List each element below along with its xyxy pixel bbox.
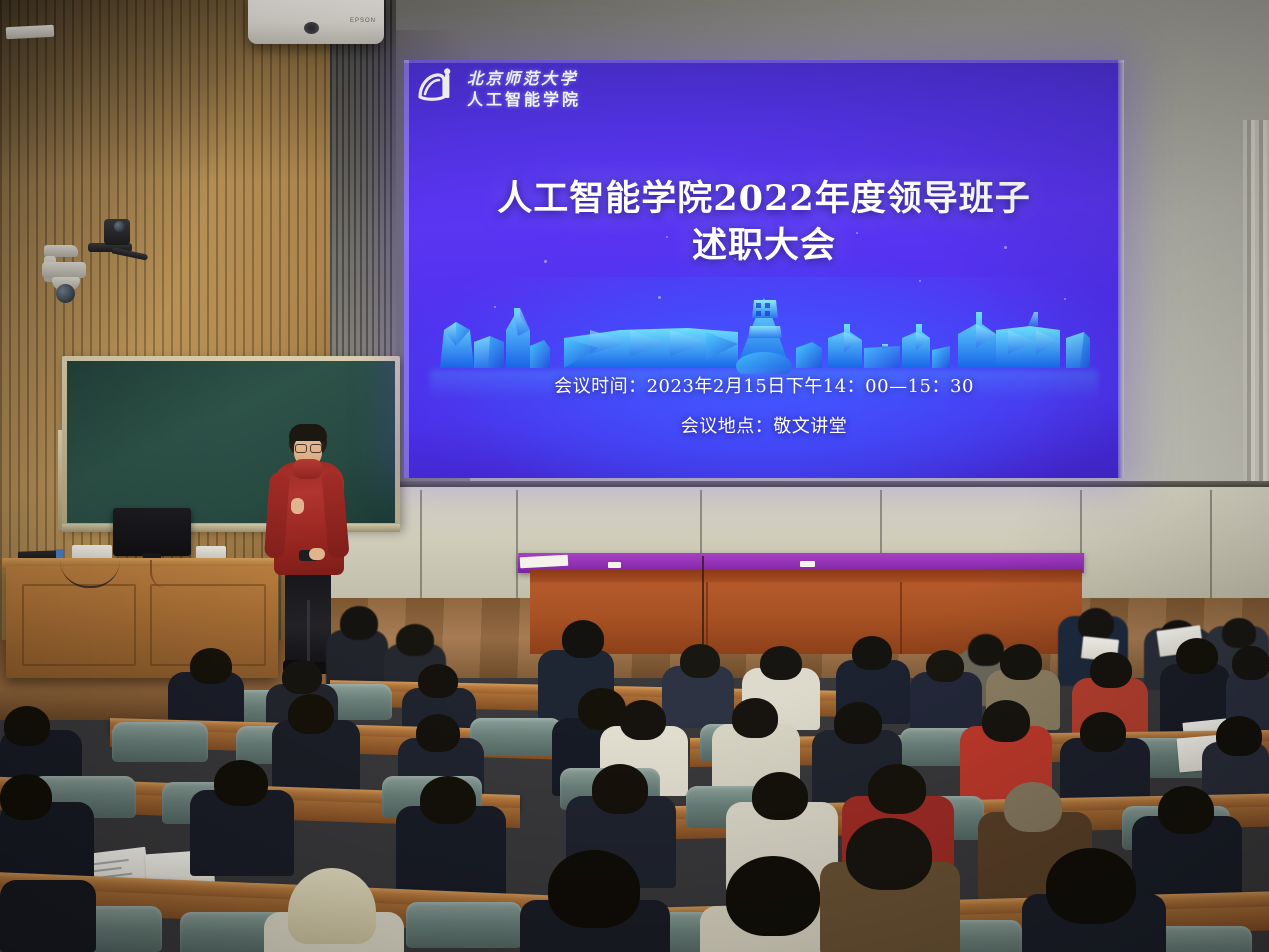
dome-camera-lens-icon [56, 284, 75, 303]
audience-head [288, 694, 334, 734]
slide-meeting-time: 会议时间：2023年2月15日下午14：00—15：30 [404, 372, 1124, 398]
panel-table-paper [608, 562, 621, 568]
audience-head [340, 606, 378, 640]
slide-logo-university: 北京师范大学 [467, 71, 581, 87]
audience-head [834, 702, 882, 744]
wainscot-seam [516, 490, 518, 606]
audience-seat [470, 718, 562, 756]
slide-title: 人工智能学院2022年度领导班子 述职大会 [404, 176, 1124, 269]
podium-door-panel-left [22, 584, 136, 666]
slide-logo-text: 北京师范大学 人工智能学院 [467, 71, 581, 108]
presenter-hand-left [291, 498, 304, 514]
audience-head [1078, 608, 1114, 640]
audience-head [562, 620, 604, 658]
wainscot-seam [420, 490, 422, 606]
audience-head [1216, 716, 1262, 756]
audience-head [592, 764, 648, 814]
wall-sign [6, 25, 55, 39]
audience-head [420, 776, 476, 824]
audience-head [726, 856, 820, 936]
presenter-fringe [289, 424, 327, 441]
audience-head [868, 764, 926, 814]
slide-title-line1: 人工智能学院2022年度领导班子 [404, 176, 1124, 223]
audience-head [1080, 712, 1126, 752]
audience-head [760, 646, 802, 680]
audience-head [680, 644, 720, 678]
audience-head [396, 624, 434, 656]
audience-head [982, 700, 1030, 742]
audience-head [418, 664, 458, 698]
presenter-glasses-left-icon [295, 444, 307, 453]
audience-head [416, 714, 460, 752]
slide-logo: 北京师范大学 人工智能学院 [414, 67, 581, 111]
audience-head [846, 818, 932, 890]
audience-head [4, 706, 50, 746]
screen-edge-left [404, 60, 409, 478]
audience-head [190, 648, 232, 684]
audience-head [1176, 638, 1218, 674]
panel-table-paper [800, 561, 815, 567]
audience-head [0, 774, 52, 820]
slide-star [919, 280, 921, 282]
audience-head [732, 698, 778, 738]
bnu-mudu-bell-logo-icon [414, 67, 458, 111]
slide-title-line2: 述职大会 [404, 223, 1124, 270]
audience-head [852, 636, 892, 670]
audience-head [1004, 782, 1062, 832]
presenter-hand-right [309, 548, 325, 560]
projection-screen: 北京师范大学 人工智能学院 人工智能学院2022年度领导班子 述职大会 [404, 60, 1124, 478]
audience-head [968, 634, 1004, 666]
audience-head [548, 850, 640, 928]
screen-edge-right [1118, 60, 1124, 478]
podium-monitor [113, 508, 191, 556]
panel-table-seam [900, 582, 902, 654]
ptz-camera-lens-icon [114, 221, 125, 232]
presenter-leg-split [307, 600, 310, 664]
screen-edge-top [404, 60, 1124, 63]
panel-table-lip [530, 570, 1082, 582]
low-poly-skyline-icon [430, 286, 1098, 374]
audience-head [578, 688, 626, 730]
presenter-collar [292, 459, 323, 479]
audience-head [620, 700, 666, 740]
audience-body [0, 880, 96, 952]
audience-head [1046, 848, 1136, 924]
projector-lens-icon [304, 22, 319, 34]
dome-camera-housing [42, 262, 86, 278]
audience-head [752, 772, 808, 820]
slide-meeting-place: 会议地点：敬文讲堂 [404, 412, 1124, 438]
audience-head [1158, 786, 1214, 834]
audience-seat [112, 722, 208, 762]
panel-table-seam [706, 582, 708, 654]
projector-brand-label: EPSON [350, 18, 376, 24]
audience-seat [406, 902, 522, 948]
audience-head [1222, 618, 1256, 648]
audience-head [1090, 652, 1132, 688]
audience-head [1232, 646, 1269, 680]
panel-table-microphone [702, 556, 704, 654]
presenter-glasses-right-icon [310, 444, 322, 453]
audience-head [214, 760, 268, 806]
audience-beanie-head [288, 868, 376, 944]
slide-logo-school: 人工智能学院 [467, 92, 581, 108]
lecture-hall-photo: EPSON [0, 0, 1269, 952]
chalkboard-frame [62, 356, 400, 528]
audience-head [282, 660, 322, 694]
audience-head [926, 650, 964, 682]
audience-head [1000, 644, 1042, 680]
chalkboard-side-rod [58, 430, 62, 530]
ceiling-projector-icon: EPSON [248, 0, 384, 44]
wainscot-seam [1210, 490, 1212, 606]
